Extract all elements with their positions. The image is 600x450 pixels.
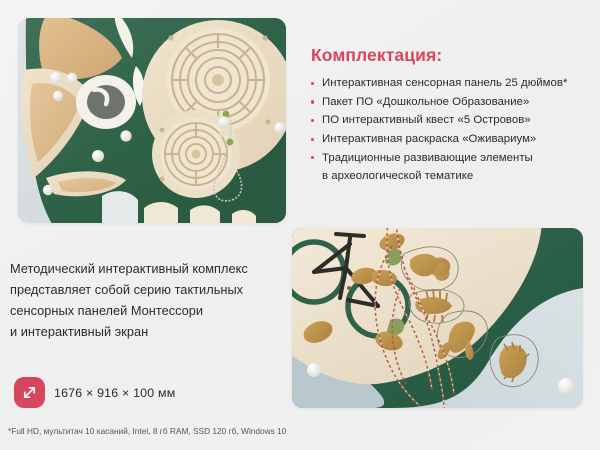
specification-item: ПО интерактивный квест «5 Островов» [311, 111, 586, 130]
specification-item: Интерактивная раскраска «Оживариум» [311, 130, 586, 149]
lead-paragraph-line: и интерактивный экран [10, 321, 302, 342]
specification-item: Пакет ПО «Дошкольное Образование» [311, 93, 586, 112]
resize-diagonal-icon [14, 377, 45, 408]
bullet-icon [311, 82, 314, 85]
specification-item-label-continuation: в археологической тематике [322, 167, 586, 186]
specification-item: Интерактивная сенсорная панель 25 дюймов… [311, 74, 586, 93]
bullet-icon [311, 156, 314, 159]
bullet-icon [311, 138, 314, 141]
dimensions-row: 1676 × 916 × 100 мм [14, 377, 175, 408]
bullet-icon [311, 100, 314, 103]
specification-item-label: Интерактивная сенсорная панель 25 дюймов… [322, 77, 567, 89]
photo-archaeology-fossil-panel-image [292, 228, 583, 408]
photo-montessori-maze-panel-image [18, 18, 286, 223]
specification-item-label: Интерактивная раскраска «Оживариум» [322, 133, 536, 145]
lead-paragraph-line: Методический интерактивный комплекс [10, 258, 302, 279]
lead-paragraph-line: сенсорных панелей Монтессори [10, 300, 302, 321]
footnote: *Full HD, мультитач 10 касаний, Intel, 8… [8, 426, 286, 436]
specification-title: Комплектация: [311, 46, 586, 65]
lead-paragraph: Методический интерактивный комплекс пред… [10, 258, 302, 342]
dimensions-value: 1676 × 916 × 100 мм [54, 386, 175, 400]
specification-block: Комплектация: Интерактивная сенсорная па… [311, 46, 586, 186]
specification-item-label: Традиционные развивающие элементы [322, 152, 533, 164]
lead-paragraph-line: представляет собой серию тактильных [10, 279, 302, 300]
specification-list: Интерактивная сенсорная панель 25 дюймов… [311, 74, 586, 186]
specification-item-label: Пакет ПО «Дошкольное Образование» [322, 96, 529, 108]
specification-item-label: ПО интерактивный квест «5 Островов» [322, 114, 531, 126]
photo-archaeology-fossil-panel [292, 228, 583, 408]
specification-item: Традиционные развивающие элементы в архе… [311, 149, 586, 186]
bullet-icon [311, 119, 314, 122]
photo-montessori-maze-panel [18, 18, 286, 223]
slide-root: Комплектация: Интерактивная сенсорная па… [0, 0, 600, 450]
